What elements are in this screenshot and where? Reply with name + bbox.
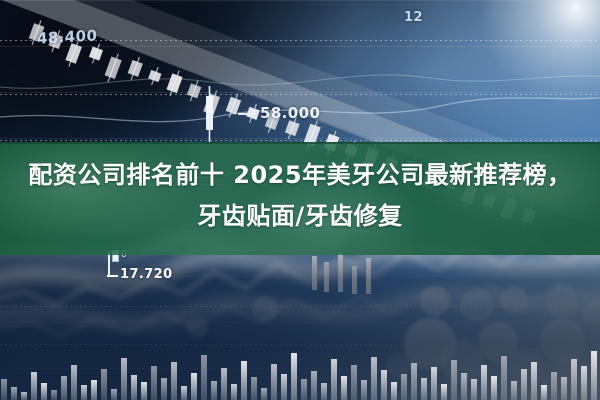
volume-bar [231, 384, 237, 400]
volume-bar [471, 379, 477, 400]
volume-bar [391, 382, 397, 400]
volume-bar [101, 369, 107, 400]
volume-bar [461, 373, 467, 400]
volume-bar [291, 353, 297, 400]
volume-bar [121, 358, 127, 400]
price-label-58000: 58.000 [260, 104, 320, 122]
volume-bar [341, 376, 347, 400]
volume-bar [161, 378, 167, 400]
volume-bar [151, 366, 157, 400]
volume-bar [141, 382, 147, 400]
chart-volume-bars [0, 342, 600, 400]
volume-bar [261, 388, 267, 400]
volume-bar [411, 363, 417, 400]
page-title: 配资公司排名前十 2025年美牙公司最新推荐榜， 牙齿贴面/牙齿修复 [0, 155, 600, 237]
volume-bar [541, 385, 547, 400]
volume-bar [481, 365, 487, 400]
volume-bar [41, 383, 47, 400]
page-title-line-1: 配资公司排名前十 2025年美牙公司最新推荐榜， [14, 155, 586, 196]
volume-bar [581, 366, 587, 400]
volume-bar [241, 361, 247, 400]
volume-bar [91, 380, 97, 400]
price-label-48400: 48.400 [37, 26, 97, 47]
volume-bar [181, 386, 187, 400]
volume-bar [251, 377, 257, 400]
price-label-12: 12 [404, 10, 423, 25]
volume-bar [171, 362, 177, 400]
volume-bar [551, 372, 557, 400]
volume-bar [441, 384, 447, 400]
volume-bar [591, 351, 597, 400]
volume-bar [301, 379, 307, 400]
volume-bar [371, 357, 377, 400]
volume-bar [351, 365, 357, 400]
volume-bar [281, 374, 287, 400]
volume-bar [111, 389, 117, 400]
volume-bar [191, 373, 197, 400]
volume-bar [531, 362, 537, 400]
banner-image: 48.400 12 58.000 0 17.720 配资公司排名前十 2025年… [0, 0, 600, 400]
volume-bar [21, 392, 27, 400]
volume-bar [51, 390, 57, 400]
volume-bar [511, 381, 517, 400]
volume-bar [431, 367, 437, 400]
volume-bar [421, 378, 427, 400]
volume-bar [501, 356, 507, 400]
volume-bar [61, 376, 67, 400]
volume-bar [561, 377, 567, 400]
volume-bar [321, 383, 327, 400]
title-band-top-edge [0, 142, 600, 144]
volume-bar [491, 376, 497, 400]
price-tick-hook [108, 252, 110, 276]
page-title-line-2: 牙齿贴面/牙齿修复 [14, 196, 586, 237]
volume-bar [331, 359, 337, 400]
volume-bar [381, 370, 387, 400]
volume-bar [1, 379, 7, 400]
volume-bar [521, 369, 527, 400]
volume-bar [31, 372, 37, 400]
volume-bar [211, 381, 217, 400]
volume-bar [81, 385, 87, 400]
volume-bar [131, 375, 137, 400]
volume-bar [361, 380, 367, 400]
volume-bar [401, 374, 407, 400]
volume-bar [271, 364, 277, 400]
volume-bar [201, 355, 207, 400]
volume-bar [311, 371, 317, 400]
volume-bar [71, 365, 77, 400]
volume-bar [221, 368, 227, 400]
price-label-17720: 17.720 [120, 267, 173, 282]
volume-bar [451, 360, 457, 400]
volume-bar [11, 387, 17, 400]
volume-bar [571, 359, 577, 400]
